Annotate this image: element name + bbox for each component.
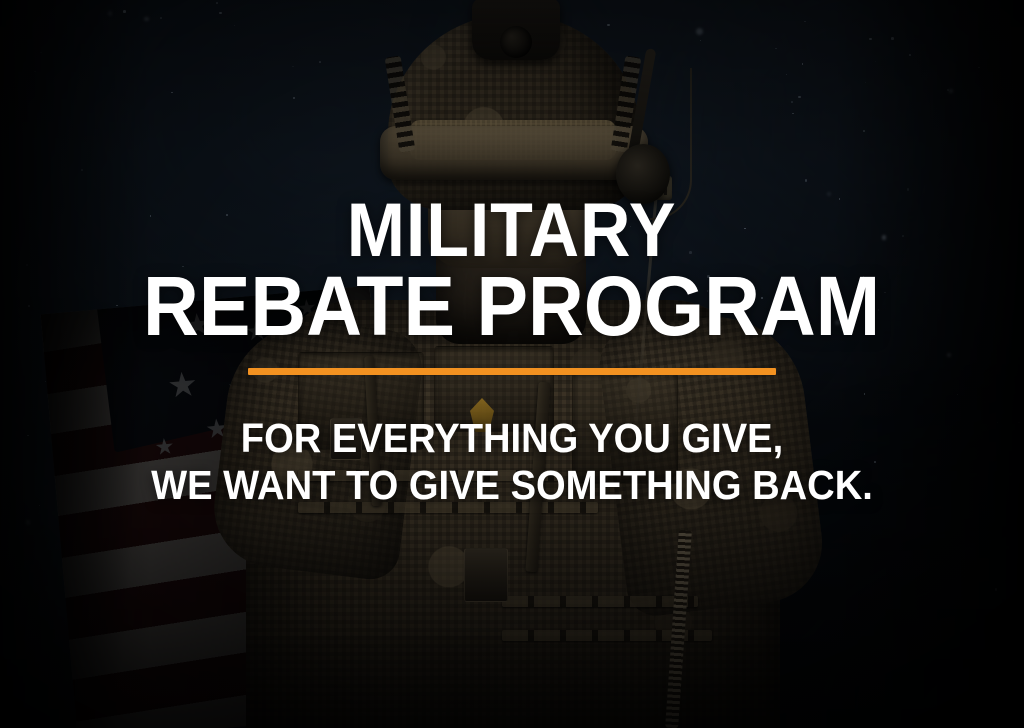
headline-line-1: MILITARY bbox=[143, 196, 880, 267]
orange-divider bbox=[248, 368, 776, 375]
military-rebate-banner: ★★★★★★★★★ bbox=[0, 0, 1024, 728]
subheadline-line-1: FOR EVERYTHING YOU GIVE, bbox=[151, 415, 873, 463]
subheadline: FOR EVERYTHING YOU GIVE, WE WANT TO GIVE… bbox=[151, 415, 873, 510]
banner-content: MILITARY REBATE PROGRAM FOR EVERYTHING Y… bbox=[0, 0, 1024, 728]
subheadline-line-2: WE WANT TO GIVE SOMETHING BACK. bbox=[151, 462, 873, 510]
headline-line-2: REBATE PROGRAM bbox=[143, 267, 880, 345]
page-title: MILITARY REBATE PROGRAM bbox=[143, 196, 880, 345]
